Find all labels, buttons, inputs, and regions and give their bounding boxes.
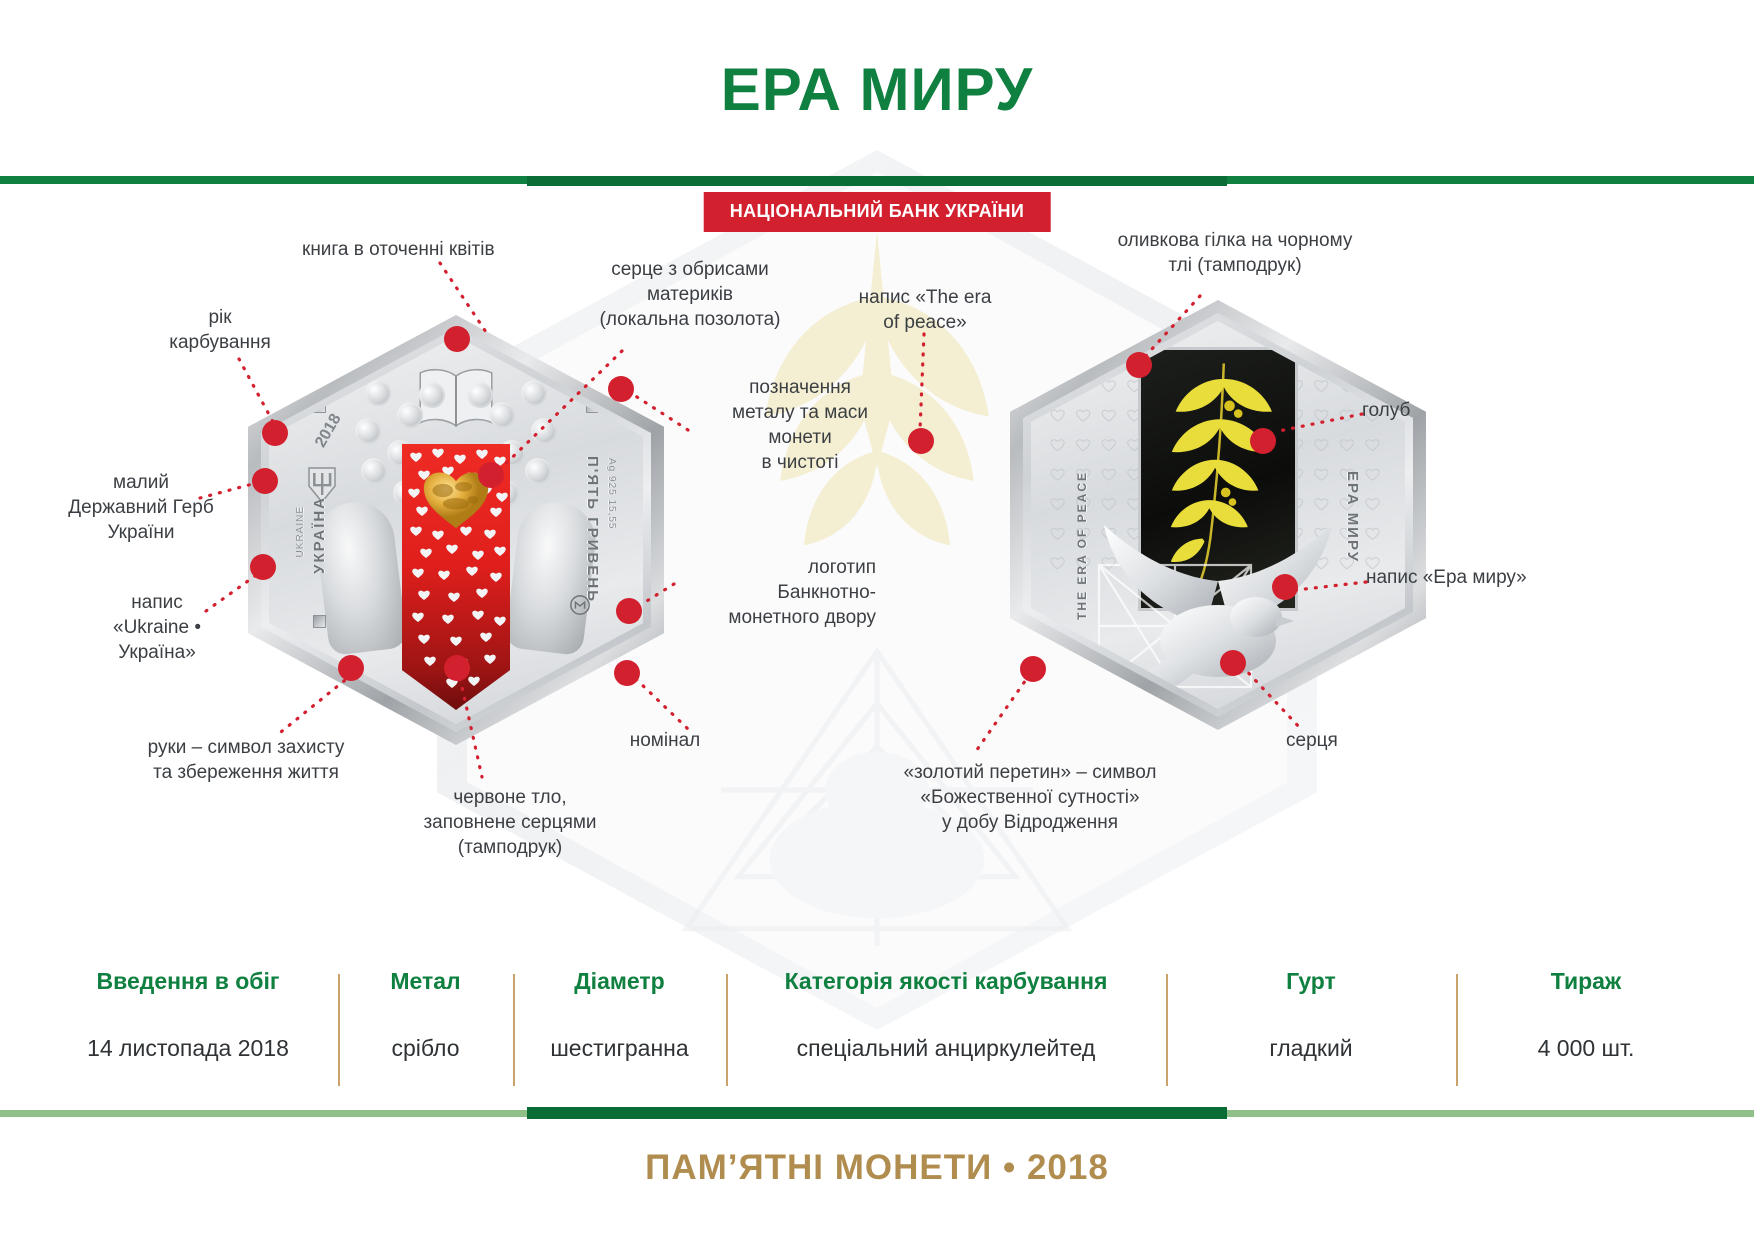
- marker-metal-mass: [608, 376, 634, 402]
- spec-column-diameter: Діаметр шестигранна: [513, 968, 726, 1094]
- reverse-coin: THE ERA OF PEACE ЕРА МИРУ: [1010, 300, 1426, 730]
- spec-column-issue-date: Введення в обіг 14 листопада 2018: [38, 968, 338, 1094]
- spec-value-metal: срібло: [391, 1035, 459, 1062]
- spec-header-issue-date: Введення в обіг: [97, 968, 280, 995]
- callout-hands: руки – символ захистута збереження життя: [96, 735, 396, 785]
- callout-golden-ratio: «золотий перетин» – символ«Божественної …: [760, 760, 1300, 835]
- spec-header-edge: Гурт: [1286, 968, 1336, 995]
- spec-column-metal: Метал срібло: [338, 968, 513, 1094]
- callout-red-field: червоне тло,заповнене серцями(тамподрук): [370, 785, 650, 860]
- spec-value-diameter: шестигранна: [550, 1035, 688, 1062]
- leader-red-field: [444, 665, 494, 785]
- leader-mint-logo: [636, 578, 678, 614]
- callout-heart-continents: серце з обрисамиматериків(локальна позол…: [540, 257, 840, 332]
- reverse-left-inscription: THE ERA OF PEACE: [1075, 471, 1089, 620]
- leader-golden-ratio: [960, 670, 1040, 760]
- leader-era-myru: [1290, 578, 1372, 602]
- marker-olive-branch: [1126, 352, 1152, 378]
- leader-hearts: [1236, 662, 1312, 742]
- marker-hands: [338, 655, 364, 681]
- marker-dove: [1250, 428, 1276, 454]
- spec-column-edge: Гурт гладкий: [1166, 968, 1456, 1094]
- leader-dove: [1268, 410, 1368, 440]
- leader-era-of-peace: [880, 330, 940, 440]
- marker-hearts: [1220, 650, 1246, 676]
- square-mark-bottom-left: [313, 615, 326, 628]
- marker-red-field: [444, 655, 470, 681]
- marker-emblem: [252, 468, 278, 494]
- reverse-right-inscription: ЕРА МИРУ: [1344, 471, 1361, 563]
- marker-book: [444, 326, 470, 352]
- marker-era-of-peace: [908, 428, 934, 454]
- spec-column-quality: Категорія якості карбування спеціальний …: [726, 968, 1166, 1094]
- callout-era-myru: напис «Ера миру»: [1366, 565, 1626, 590]
- bank-banner: НАЦІОНАЛЬНИЙ БАНК УКРАЇНИ: [704, 192, 1051, 232]
- mint-logo-icon: [569, 594, 591, 616]
- marker-mint-logo: [616, 598, 642, 624]
- spec-value-issue-date: 14 листопада 2018: [87, 1035, 289, 1062]
- marker-heart-continents: [478, 462, 504, 488]
- spec-header-diameter: Діаметр: [574, 968, 664, 995]
- footer-rule-accent: [527, 1107, 1227, 1119]
- callout-year: ріккарбування: [120, 305, 320, 355]
- footer-text: ПАМ’ЯТНІ МОНЕТИ • 2018: [0, 1148, 1754, 1188]
- infographic-page: ЕРА МИРУ НАЦІОНАЛЬНИЙ БАНК УКРАЇНИ: [0, 0, 1754, 1240]
- spec-header-mintage: Тираж: [1551, 968, 1621, 995]
- spec-value-mintage: 4 000 шт.: [1538, 1035, 1635, 1062]
- leader-denomination: [630, 675, 700, 741]
- left-white-band: [0, 176, 40, 1116]
- marker-denomination: [614, 660, 640, 686]
- callout-olive-branch: оливкова гілка на чорномутлі (тамподрук): [1080, 228, 1390, 278]
- obverse-left-inscription-small: UKRAINE: [295, 506, 306, 557]
- right-white-band: [1714, 176, 1754, 1116]
- marker-ukraine-inscription: [250, 554, 276, 580]
- spec-column-mintage: Тираж 4 000 шт.: [1456, 968, 1716, 1094]
- marker-golden-ratio: [1020, 656, 1046, 682]
- specification-table: Введення в обіг 14 листопада 2018 Метал …: [38, 968, 1716, 1094]
- header-rule-accent: [527, 176, 1227, 186]
- marker-era-myru: [1272, 574, 1298, 600]
- spec-header-metal: Метал: [390, 968, 460, 995]
- marker-year: [262, 420, 288, 446]
- spec-value-edge: гладкий: [1269, 1035, 1352, 1062]
- obverse-left-inscription: УКРАЇНА: [311, 496, 328, 574]
- callout-dove: голуб: [1362, 398, 1482, 423]
- spec-value-quality: спеціальний анциркулейтед: [797, 1035, 1096, 1062]
- spec-header-quality: Категорія якості карбування: [785, 968, 1108, 995]
- dove-relief-icon: [1078, 521, 1358, 709]
- page-title: ЕРА МИРУ: [0, 55, 1754, 124]
- callout-era-of-peace: напис «The eraof peace»: [810, 285, 1040, 335]
- leader-book: [430, 255, 510, 355]
